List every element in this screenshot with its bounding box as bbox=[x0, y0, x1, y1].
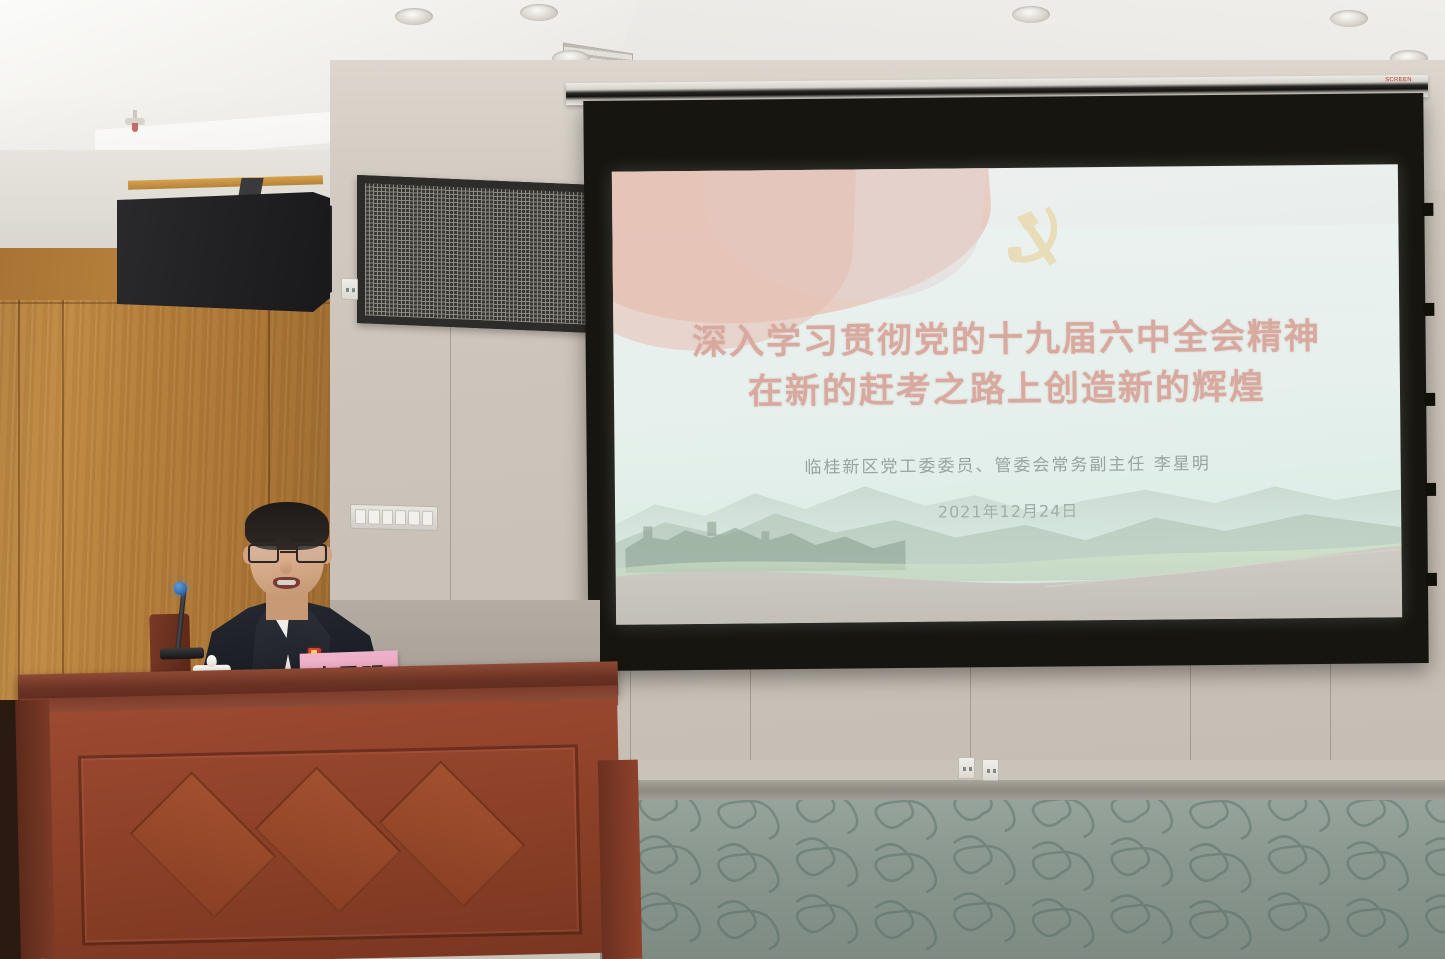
wall-outlet[interactable] bbox=[341, 278, 358, 301]
recessed-downlight bbox=[1330, 10, 1368, 27]
microphone-head bbox=[174, 582, 187, 595]
mouth bbox=[273, 577, 300, 589]
speaker-mount-bracket bbox=[238, 178, 263, 196]
fire-sprinkler-head bbox=[125, 110, 145, 132]
slide-title-block: 深入学习贯彻党的十九届六中全会精神 在新的赶考之路上创造新的辉煌 bbox=[613, 312, 1400, 419]
light-switch[interactable] bbox=[408, 510, 419, 525]
screen-brand-label: SCREEN bbox=[1385, 77, 1412, 83]
conference-room-photo: ◕ SCREEN bbox=[0, 0, 1445, 959]
presentation-slide: 深入学习贯彻党的十九届六中全会精神 在新的赶考之路上创造新的辉煌 临桂新区党工委… bbox=[612, 164, 1402, 625]
light-switch[interactable] bbox=[395, 510, 406, 525]
eyebrow-right bbox=[290, 538, 314, 542]
stage-front-edge bbox=[598, 760, 643, 959]
chair-back bbox=[149, 613, 191, 674]
slide-title-line-2: 在新的赶考之路上创造新的辉煌 bbox=[614, 362, 1400, 419]
recessed-downlight bbox=[520, 4, 558, 21]
slide-landscape-illustration bbox=[615, 457, 1402, 625]
ccp-hammer-sickle-emblem bbox=[997, 199, 1072, 276]
wall-outlet[interactable] bbox=[958, 757, 975, 779]
acoustic-mesh-panel bbox=[357, 175, 595, 333]
recessed-downlight bbox=[1012, 6, 1050, 23]
microphone-base bbox=[160, 647, 204, 659]
hair bbox=[245, 502, 329, 550]
teacup-knob bbox=[207, 655, 217, 667]
podium-left-side bbox=[15, 700, 55, 959]
light-switch[interactable] bbox=[422, 511, 433, 526]
wall-speaker: ◕ bbox=[117, 192, 330, 312]
recessed-downlight bbox=[395, 8, 433, 25]
eyebrow-left bbox=[252, 538, 276, 542]
slide-title-line-1: 深入学习贯彻党的十九届六中全会精神 bbox=[613, 312, 1399, 369]
wall-outlet[interactable] bbox=[982, 759, 999, 781]
mesh-texture bbox=[365, 183, 587, 324]
nose bbox=[280, 560, 292, 574]
carpet-swirl-pattern bbox=[600, 800, 1445, 959]
patterned-carpet bbox=[600, 800, 1445, 959]
